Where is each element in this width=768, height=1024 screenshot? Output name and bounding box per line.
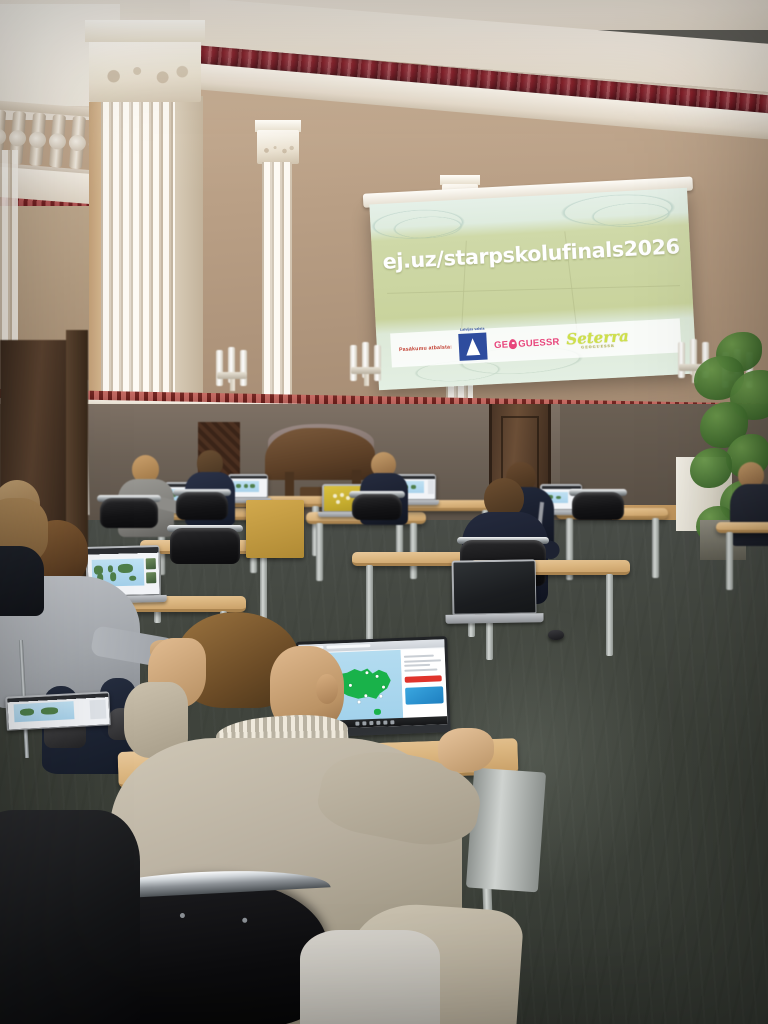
- chair-foreground-left[interactable]: [0, 810, 140, 1024]
- laptop-far-left-bottom[interactable]: [5, 691, 111, 730]
- table-far-right: [716, 522, 768, 533]
- wall-sconce-center: [348, 345, 384, 391]
- pine-tree-icon: [466, 337, 481, 355]
- classroom-photo-scene: ej.uz/starpskolufinals2026 Pasākumu atba…: [0, 0, 768, 1024]
- sponsor-logo-lvm: Latvijas valsts: [458, 332, 487, 360]
- projection-screen: ej.uz/starpskolufinals2026 Pasākumu atba…: [369, 188, 696, 390]
- light-haze: [0, 0, 768, 200]
- table-leg-support: [466, 768, 546, 893]
- ear: [316, 674, 338, 704]
- map-pin-icon: [509, 339, 518, 349]
- lvm-top-text: Latvijas valsts: [458, 326, 486, 331]
- chair-rear-center-left[interactable]: [176, 492, 228, 520]
- trousers-foreground: [300, 930, 440, 1024]
- yellow-board-on-table: [246, 500, 304, 558]
- projected-slide: ej.uz/starpskolufinals2026 Pasākumu atba…: [369, 188, 696, 390]
- person-far-left: [0, 480, 48, 600]
- computer-mouse-right[interactable]: [548, 630, 564, 640]
- sponsor-logo-geoguessr: GE GUESSR: [494, 336, 560, 350]
- chair-rear-right-center[interactable]: [352, 494, 402, 520]
- chair-rear-right[interactable]: [572, 492, 624, 520]
- sponsor-logo-seterra: Seterra GEOGUESSR: [566, 329, 629, 351]
- right-hand: [438, 728, 494, 772]
- geoguessr-text-guessr: GUESSR: [518, 336, 560, 349]
- chair-mid-left[interactable]: [170, 528, 240, 564]
- sponsor-label: Pasākumu atbalsta:: [399, 344, 452, 353]
- laptop-unattended-hp[interactable]: [452, 559, 537, 614]
- wall-sconce-left: [214, 350, 250, 396]
- geoguessr-text-ge: GE: [494, 339, 509, 351]
